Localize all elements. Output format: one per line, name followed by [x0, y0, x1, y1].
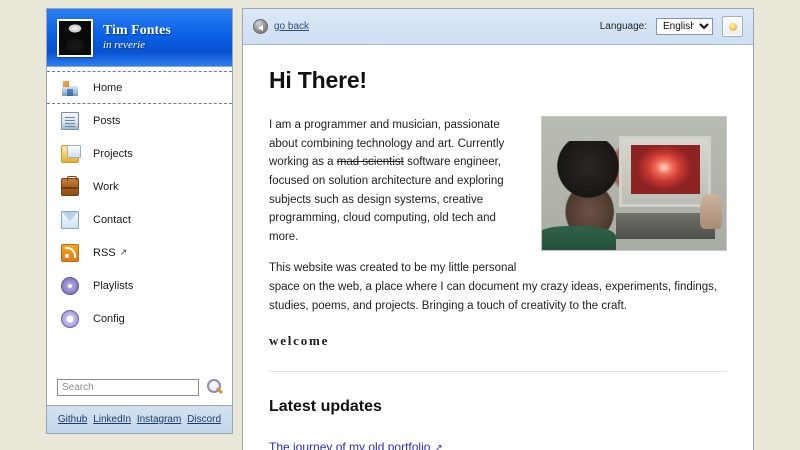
sidebar-item-playlists[interactable]: Playlists — [47, 269, 232, 302]
go-back-label: go back — [274, 21, 309, 32]
strikethrough-text: mad scientist — [337, 156, 404, 168]
section-divider — [269, 371, 727, 372]
sidebar-item-label: Playlists — [93, 280, 133, 292]
footer-link-discord[interactable]: Discord — [187, 414, 221, 425]
page-root: Tim Fontes in reverie Home Posts Project… — [0, 0, 800, 450]
update-title-link[interactable]: The journey of my old portfolio↗ — [269, 440, 443, 450]
sidebar-item-label: Work — [93, 181, 118, 193]
welcome-signature: welcome — [269, 333, 727, 349]
update-item: The journey of my old portfolio↗ I took … — [269, 438, 727, 450]
intro-paragraph-2: This website was created to be my little… — [269, 259, 727, 315]
sidebar-item-config[interactable]: Config — [47, 302, 232, 335]
avatar — [57, 19, 93, 57]
page-title: Hi There! — [269, 67, 727, 94]
sidebar-item-label: Posts — [93, 115, 121, 127]
sidebar-nav: Home Posts Projects Work Contact RSS — [47, 67, 232, 371]
profile-tagline: in reverie — [103, 39, 171, 52]
search-area — [47, 371, 232, 405]
folder-icon — [61, 145, 79, 163]
sidebar-item-contact[interactable]: Contact — [47, 203, 232, 236]
update-title-text: The journey of my old portfolio — [269, 440, 430, 450]
footer-link-linkedin[interactable]: LinkedIn — [93, 414, 131, 425]
sidebar-item-rss[interactable]: RSS ↗ — [47, 236, 232, 269]
home-icon — [61, 79, 79, 97]
theme-toggle-button[interactable] — [722, 16, 743, 37]
footer-link-github[interactable]: Github — [58, 414, 87, 425]
sidebar-item-home[interactable]: Home — [47, 71, 232, 104]
disc-icon — [61, 277, 79, 295]
sidebar-item-label: Home — [93, 82, 122, 94]
search-input[interactable] — [57, 379, 199, 396]
sidebar-item-label: Config — [93, 313, 125, 325]
sidebar-item-label: Projects — [93, 148, 133, 160]
sidebar-item-projects[interactable]: Projects — [47, 137, 232, 170]
intro-line-3: software engineer, focused on solution a… — [269, 156, 504, 243]
sidebar: Tim Fontes in reverie Home Posts Project… — [46, 8, 233, 434]
sidebar-item-label: RSS — [93, 247, 116, 259]
sidebar-footer: Github LinkedIn Instagram Discord — [47, 405, 232, 433]
sun-icon — [729, 23, 737, 31]
go-back-button[interactable]: go back — [253, 19, 309, 34]
external-link-icon: ↗ — [120, 247, 128, 258]
magnifier-icon[interactable] — [204, 377, 224, 397]
external-link-icon: ↗ — [434, 443, 442, 450]
retro-monitor-photo — [541, 116, 727, 251]
briefcase-icon — [61, 178, 79, 196]
content-toolbar: go back Language: English — [243, 9, 753, 45]
gear-icon — [61, 310, 79, 328]
document-body: Hi There! I am a programmer and musician… — [243, 45, 753, 450]
sidebar-item-label: Contact — [93, 214, 131, 226]
language-label: Language: — [600, 21, 647, 32]
rss-icon — [61, 244, 79, 262]
language-select[interactable]: English — [656, 18, 713, 35]
profile-header: Tim Fontes in reverie — [47, 9, 232, 67]
sidebar-item-work[interactable]: Work — [47, 170, 232, 203]
back-arrow-icon — [253, 19, 268, 34]
content-panel: go back Language: English Hi There! — [242, 8, 754, 450]
footer-link-instagram[interactable]: Instagram — [137, 414, 181, 425]
latest-updates-heading: Latest updates — [269, 398, 727, 416]
sidebar-item-posts[interactable]: Posts — [47, 104, 232, 137]
posts-icon — [61, 112, 79, 130]
envelope-icon — [61, 211, 79, 229]
profile-name: Tim Fontes — [103, 23, 171, 39]
